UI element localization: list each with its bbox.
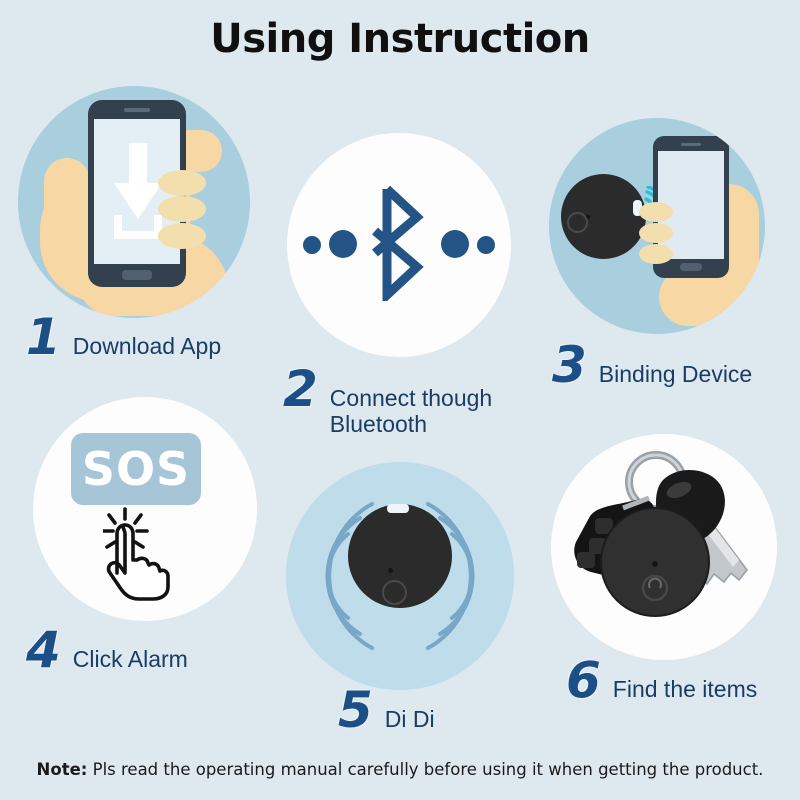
bluetooth-dot-left-large [329,230,357,258]
finger-3b [639,223,673,243]
sos-badge: SOS [71,433,201,505]
tracker-device-notch-5 [387,504,409,513]
car-keys-icon [551,434,777,660]
finger-3 [158,223,206,249]
step-3-number: 3 [552,340,587,390]
finger-1 [158,170,206,196]
tracker-device-button [567,212,588,233]
step-2-label: Connect though Bluetooth [330,386,492,438]
infographic-page: Using Instruction 1 Download App [0,0,800,800]
step-2-illustration [287,133,511,357]
phone-speaker [124,108,150,112]
bluetooth-dot-right-small [477,236,495,254]
step-3-illustration [549,118,765,334]
step-3-caption: 3 Binding Device [552,340,752,390]
step-5-illustration [286,462,514,690]
phone-speaker-3 [681,143,701,146]
step-2-caption: 2 Connect though Bluetooth [283,364,492,438]
download-arrow-icon [110,141,166,245]
step-2-number: 2 [283,364,318,414]
note-body: Pls read the operating manual carefully … [87,760,763,779]
phone-home-button-3 [680,263,702,271]
step-4-caption: 4 Click Alarm [26,625,188,675]
step-6-label: Find the items [613,677,757,703]
tracker-device-button-5 [382,580,407,605]
step-4-illustration: SOS [33,397,257,621]
step-6-number: 6 [566,655,601,705]
tracker-device-mic-5 [388,568,393,573]
step-5-number: 5 [338,685,373,735]
bluetooth-rune-icon [365,183,433,301]
step-3-label: Binding Device [599,362,752,388]
phone-home-button [122,270,152,280]
step-4-number: 4 [26,625,61,675]
step-4-label: Click Alarm [73,647,188,673]
bluetooth-dot-right-large [441,230,469,258]
note-text: Note: Pls read the operating manual care… [0,760,800,779]
tap-hand-icon [103,505,173,601]
sos-label: SOS [82,442,190,496]
bluetooth-dot-left-small [303,236,321,254]
step-6-illustration [551,434,777,660]
step-1-number: 1 [26,312,61,362]
page-title: Using Instruction [0,16,800,62]
step-1-caption: 1 Download App [26,312,221,362]
hand-thumb-shape [44,158,90,263]
step-1-label: Download App [73,334,221,360]
step-1-illustration [18,86,250,318]
finger-3c [639,244,673,264]
step-5-label: Di Di [385,707,435,733]
note-prefix: Note: [37,760,88,779]
finger-2 [158,196,206,222]
finger-3a [639,202,673,222]
step-6-caption: 6 Find the items [566,655,757,705]
step-5-caption: 5 Di Di [338,685,435,735]
